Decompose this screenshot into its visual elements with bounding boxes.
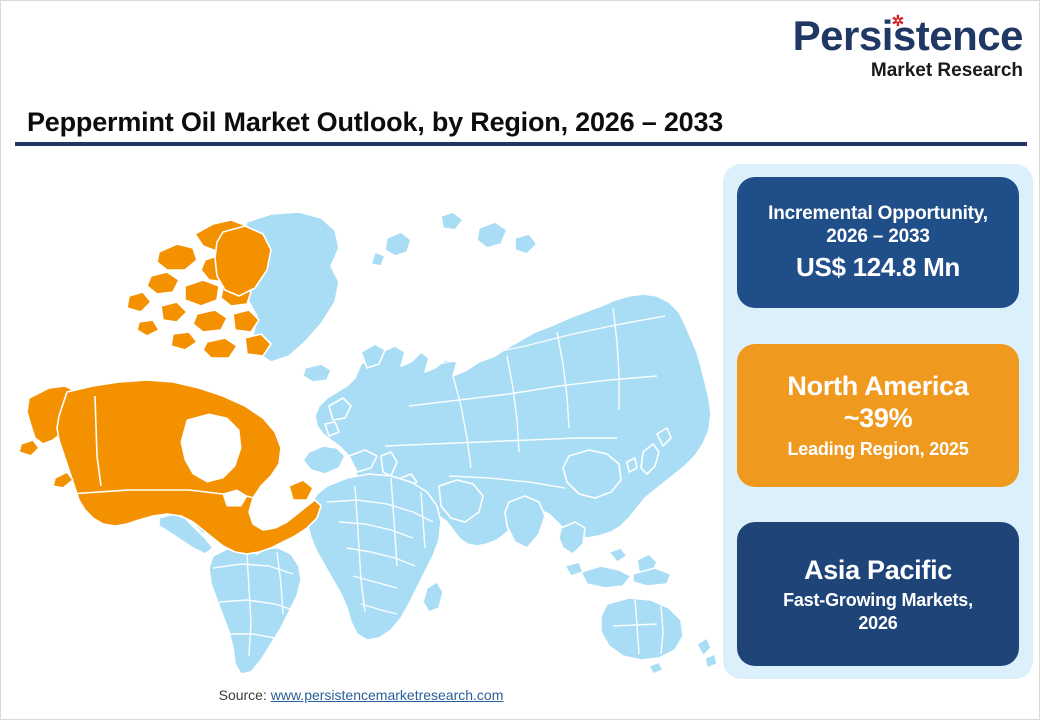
leading-region-name: North America xyxy=(787,370,968,402)
card-fast-growing-region[interactable]: Asia Pacific Fast-Growing Markets, 2026 xyxy=(737,522,1019,666)
company-logo: Persistence ✲ Market Research xyxy=(793,15,1023,80)
title-divider xyxy=(15,142,1027,146)
source-line: Source: www.persistencemarketresearch.co… xyxy=(1,687,721,703)
logo-star-dot-icon: ✲ xyxy=(892,16,903,27)
fast-growing-region-caption-line1: Fast-Growing Markets, xyxy=(783,589,973,612)
logo-brand-text: Persistence ✲ xyxy=(793,15,1023,57)
incremental-opportunity-value: US$ 124.8 Mn xyxy=(796,252,960,283)
source-label: Source: xyxy=(219,687,267,703)
world-map-svg xyxy=(9,156,721,676)
infographic-root: Persistence ✲ Market Research Peppermint… xyxy=(0,0,1040,720)
card-incremental-opportunity[interactable]: Incremental Opportunity, 2026 – 2033 US$… xyxy=(737,177,1019,308)
logo-brand-label: Persistence xyxy=(793,12,1023,59)
logo-tagline: Market Research xyxy=(793,61,1023,80)
fast-growing-region-caption-line2: 2026 xyxy=(858,612,897,635)
source-url-link[interactable]: www.persistencemarketresearch.com xyxy=(271,687,504,703)
fast-growing-region-name: Asia Pacific xyxy=(804,554,952,586)
world-map xyxy=(9,156,721,676)
card-leading-region[interactable]: North America ~39% Leading Region, 2025 xyxy=(737,344,1019,487)
leading-region-share: ~39% xyxy=(844,402,913,434)
leading-region-caption: Leading Region, 2025 xyxy=(787,438,968,461)
incremental-opportunity-label-line2: 2026 – 2033 xyxy=(826,225,929,248)
page-title: Peppermint Oil Market Outlook, by Region… xyxy=(27,107,723,138)
stats-panel: Incremental Opportunity, 2026 – 2033 US$… xyxy=(723,164,1033,679)
incremental-opportunity-label-line1: Incremental Opportunity, xyxy=(768,202,988,225)
